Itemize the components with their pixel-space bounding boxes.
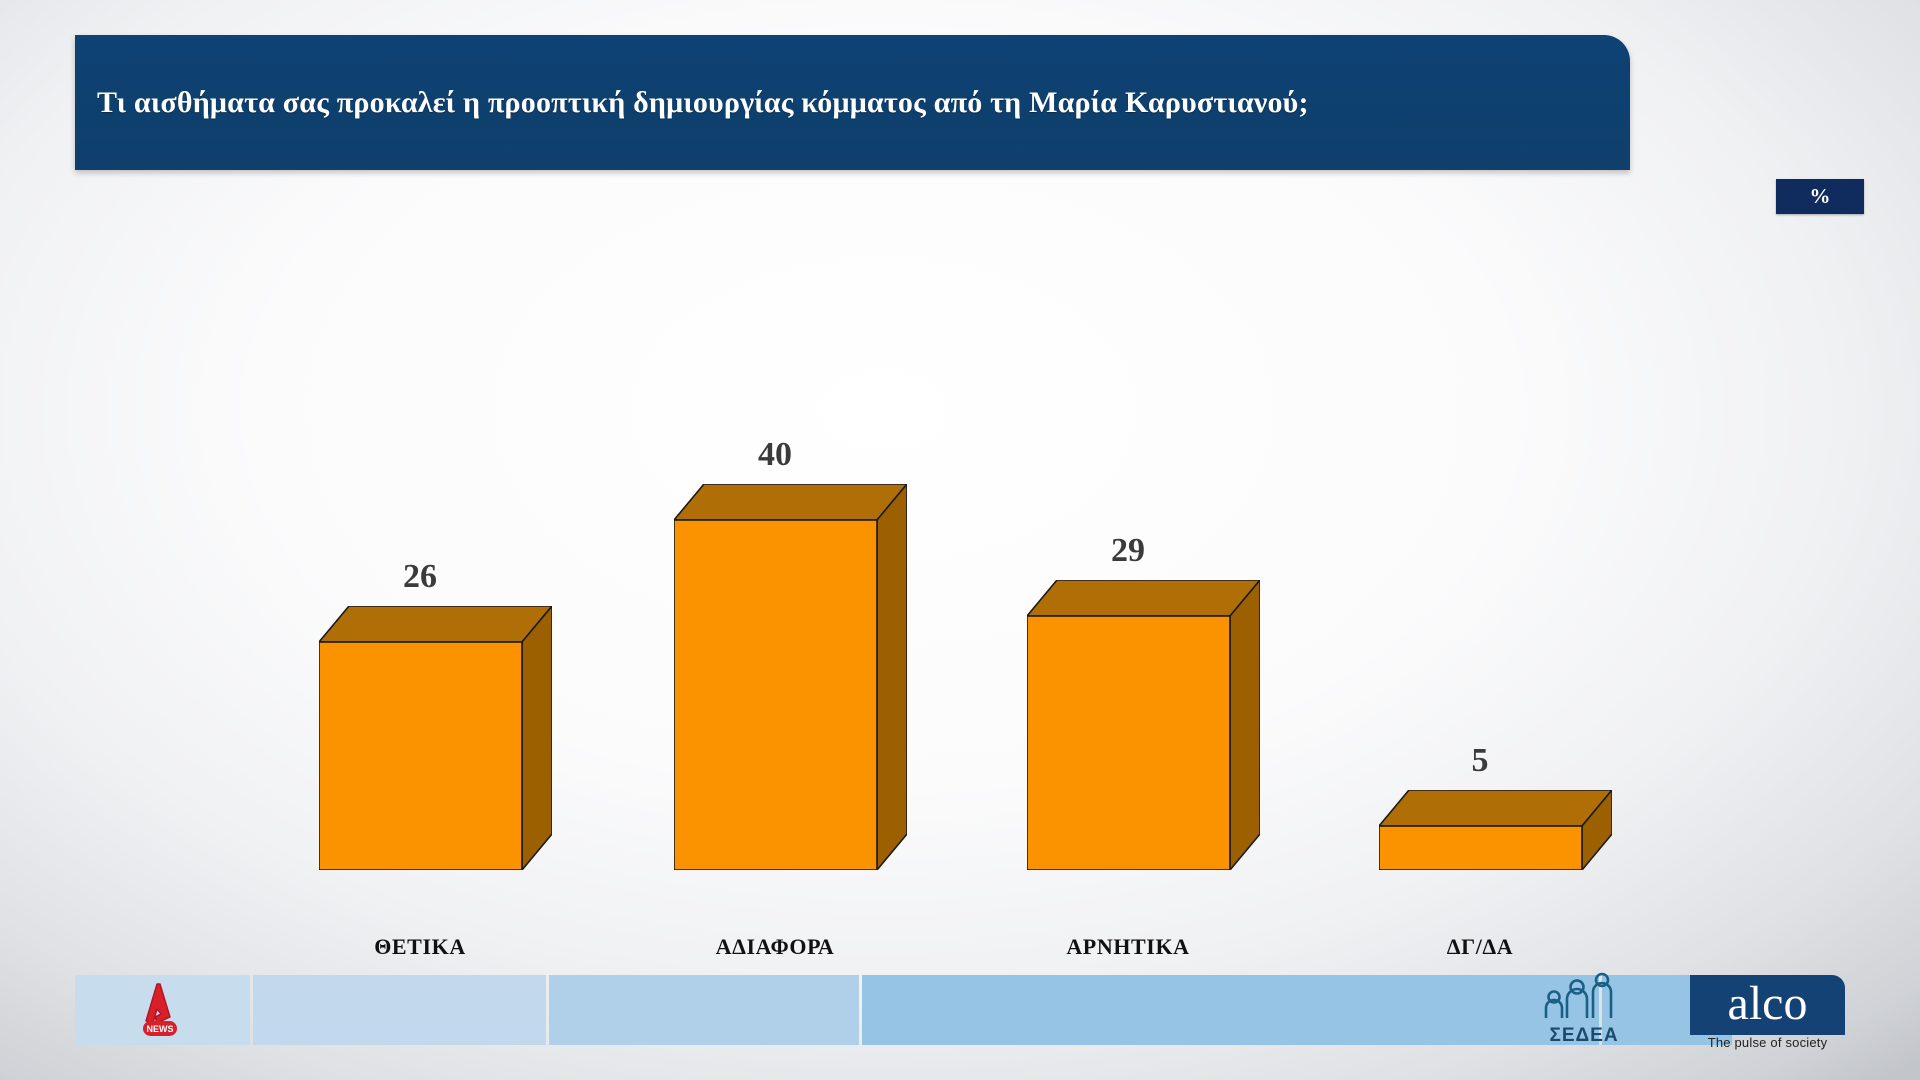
bar-value-label: 40 (695, 436, 855, 474)
bar-3d-shape (1027, 580, 1260, 870)
footer-segment-3 (549, 975, 859, 1045)
unit-badge-label: % (1810, 184, 1831, 209)
footer-segment-4 (862, 975, 1599, 1045)
footer-segment-2 (253, 975, 546, 1045)
slide-canvas: Τι αισθήματα σας προκαλεί η προοπτική δη… (0, 0, 1920, 1080)
bar-category-label: ΑΡΝΗΤΙΚΑ (968, 934, 1288, 960)
bar-3d-shape (319, 606, 552, 870)
chart-plot-area: 26ΘΕΤΙΚΑ40ΑΔΙΑΦΟΡΑ29ΑΡΝΗΤΙΚΑ5ΔΓ/ΔΑ (0, 210, 1920, 910)
bar-column[interactable] (674, 484, 907, 870)
bar-3d-shape (674, 484, 907, 870)
alpha-news-logo-icon: NEWS (126, 981, 196, 1039)
page-title: Τι αισθήματα σας προκαλεί η προοπτική δη… (97, 35, 1612, 170)
bar-category-label: ΔΓ/ΔΑ (1320, 934, 1640, 960)
alco-tagline: The pulse of society (1690, 1035, 1845, 1050)
alco-logo: alco (1690, 975, 1845, 1035)
bar-column[interactable] (1027, 580, 1260, 870)
unit-badge: % (1776, 179, 1864, 214)
alco-logo-label: alco (1728, 980, 1808, 1028)
bar-category-label: ΑΔΙΑΦΟΡΑ (615, 934, 935, 960)
bar-3d-shape (1379, 790, 1612, 870)
bar-column[interactable] (319, 606, 552, 870)
bar-column[interactable] (1379, 790, 1612, 870)
bar-category-label: ΘΕΤΙΚΑ (260, 934, 580, 960)
bar-value-label: 26 (340, 558, 500, 596)
alpha-news-logo-label: NEWS (147, 1024, 174, 1034)
sedea-logo: ΣΕΔΕΑ (1536, 970, 1632, 1047)
bar-value-label: 29 (1048, 532, 1208, 570)
sedea-people-icon (1536, 970, 1632, 1022)
bar-value-label: 5 (1400, 742, 1560, 780)
sedea-logo-label: ΣΕΔΕΑ (1536, 1025, 1632, 1047)
title-bar: Τι αισθήματα σας προκαλεί η προοπτική δη… (75, 35, 1630, 170)
footer-bar: NEWS ΣΕΔΕΑ alco The pulse of society (0, 975, 1920, 1045)
